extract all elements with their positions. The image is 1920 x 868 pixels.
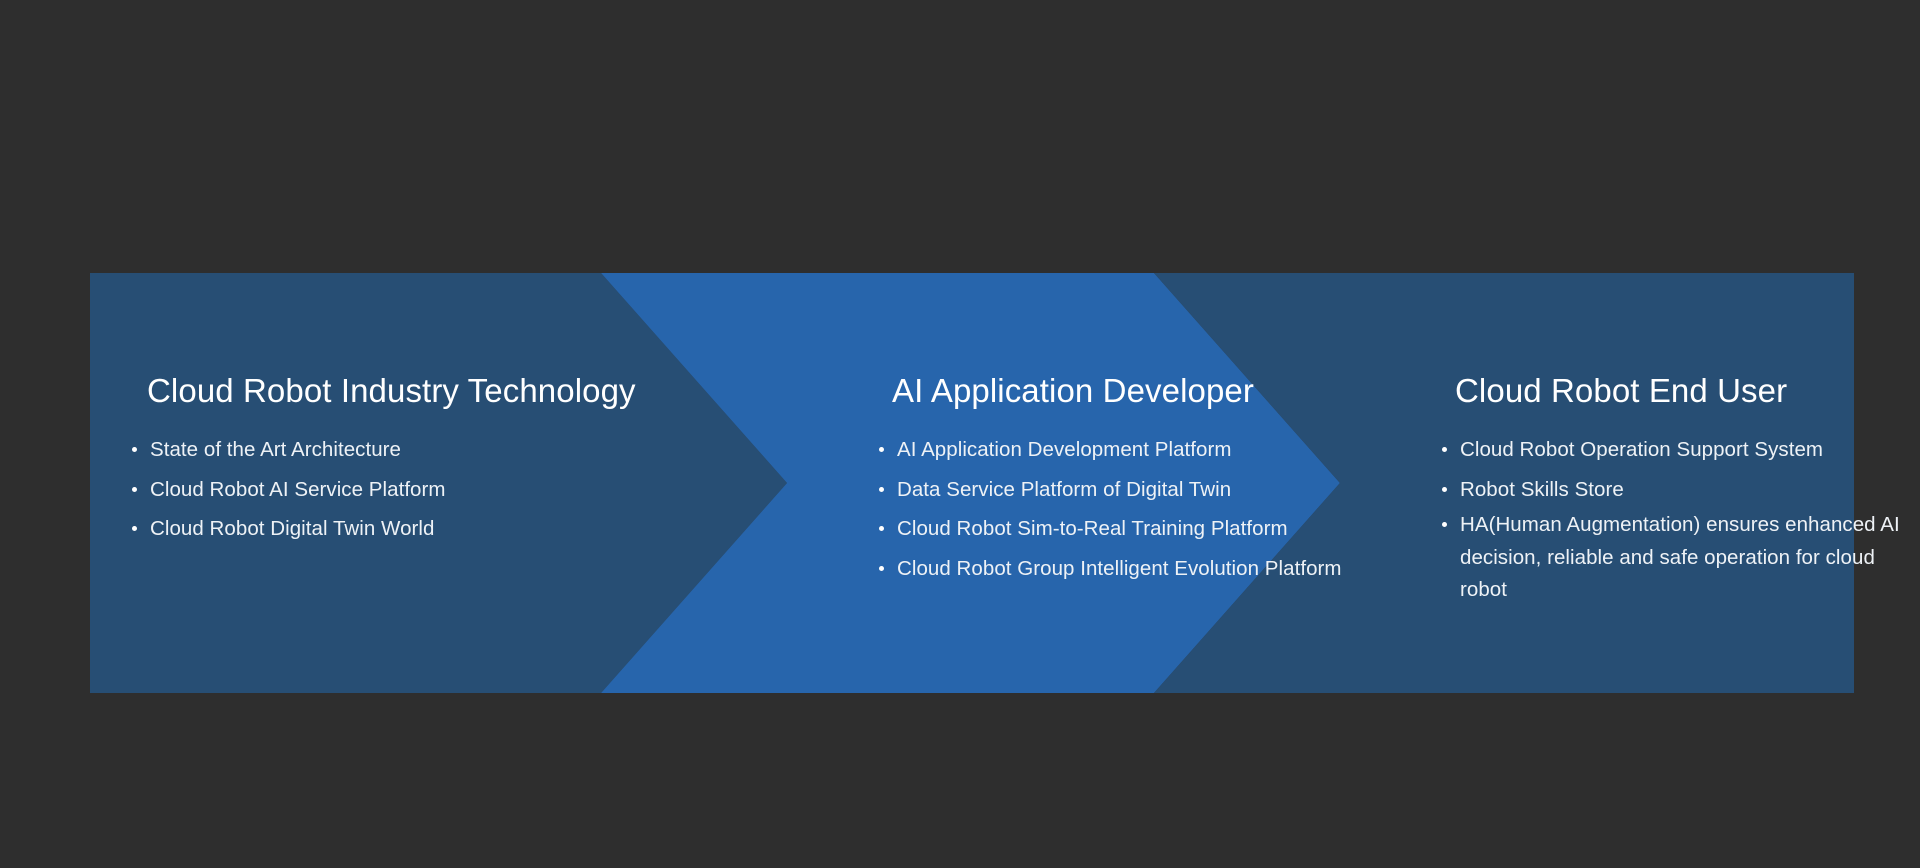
panel-2-bullet-1: AI Application Development Platform bbox=[875, 430, 1395, 470]
panel-3-title: Cloud Robot End User bbox=[1455, 374, 1787, 407]
panel-2-bullet-3: Cloud Robot Sim-to-Real Training Platfor… bbox=[875, 509, 1395, 549]
panel-3-bullet-1: Cloud Robot Operation Support System bbox=[1438, 430, 1918, 470]
panel-3-bullet-2: Robot Skills Store bbox=[1438, 470, 1918, 510]
panel-1-bullet-3: Cloud Robot Digital Twin World bbox=[128, 509, 748, 549]
chevron-banner: Cloud Robot Industry Technology State of… bbox=[90, 273, 1854, 693]
panel-3-bullet-3: HA(Human Augmentation) ensures enhanced … bbox=[1438, 509, 1918, 607]
panel-1-bullet-1: State of the Art Architecture bbox=[128, 430, 748, 470]
panel-2-title: AI Application Developer bbox=[892, 374, 1254, 407]
panel-1-bullet-2: Cloud Robot AI Service Platform bbox=[128, 470, 748, 510]
diagram-stage: Cloud Robot Industry Technology State of… bbox=[0, 0, 1920, 868]
panel-3-bullet-list: Cloud Robot Operation Support System Rob… bbox=[1438, 430, 1918, 607]
panel-2-bullet-4: Cloud Robot Group Intelligent Evolution … bbox=[875, 549, 1395, 589]
panel-2-bullet-list: AI Application Development Platform Data… bbox=[875, 430, 1395, 588]
panel-2-bullet-2: Data Service Platform of Digital Twin bbox=[875, 470, 1395, 510]
panel-1-bullet-list: State of the Art Architecture Cloud Robo… bbox=[128, 430, 748, 549]
panel-1-title: Cloud Robot Industry Technology bbox=[147, 374, 636, 407]
